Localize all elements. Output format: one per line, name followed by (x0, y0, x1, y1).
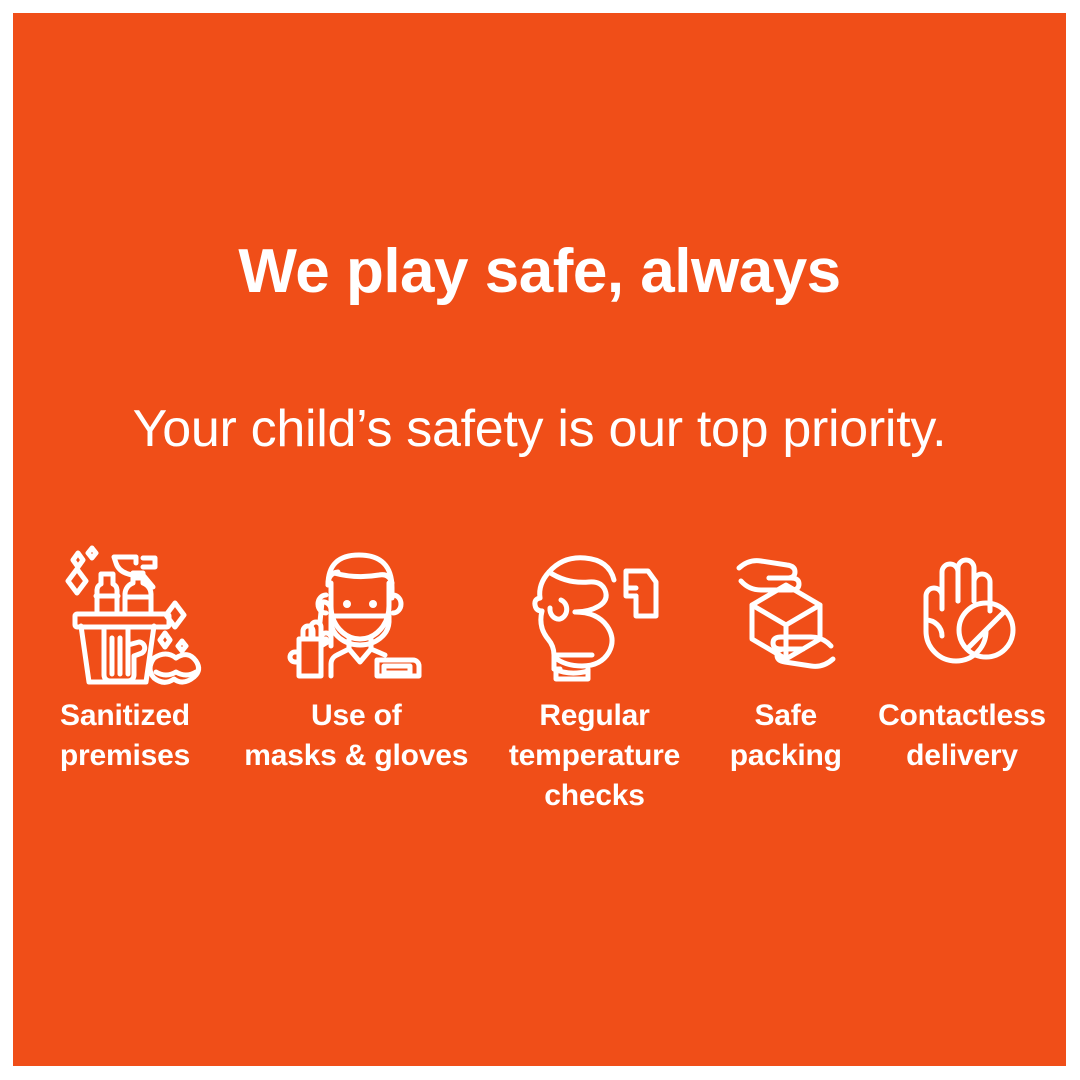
page-subtitle: Your child’s safety is our top priority. (13, 403, 1066, 455)
feature-label: Sanitized premises (60, 696, 190, 776)
page-title: We play safe, always (13, 241, 1066, 303)
thermometer-gun-head-icon (520, 538, 670, 688)
feature-label: Regular temperature checks (509, 696, 680, 816)
no-touch-hand-icon (887, 538, 1037, 688)
poster-canvas: We play safe, always Your child’s safety… (13, 13, 1066, 1066)
feature-temperature-checks: Regular temperature checks (490, 538, 700, 816)
feature-label: Safe packing (730, 696, 842, 776)
box-protected-hands-icon (711, 538, 861, 688)
cleaning-bucket-icon (50, 538, 200, 688)
safety-features-row: Sanitized premises (27, 538, 1052, 816)
masked-person-glove-icon (281, 538, 431, 688)
feature-contactless-delivery: Contactless delivery (872, 538, 1052, 776)
feature-sanitized-premises: Sanitized premises (27, 538, 223, 776)
feature-masks-and-gloves: Use of masks & gloves (234, 538, 478, 776)
feature-label: Use of masks & gloves (244, 696, 468, 776)
feature-safe-packing: Safe packing (711, 538, 861, 776)
feature-label: Contactless delivery (878, 696, 1046, 776)
